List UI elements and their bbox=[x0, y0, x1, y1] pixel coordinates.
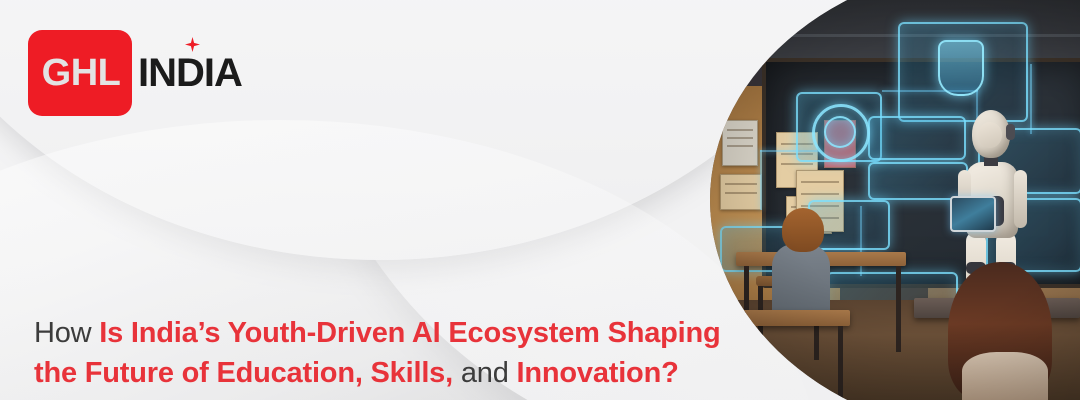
headline-segment-4: Innovation? bbox=[516, 357, 678, 389]
hero-banner: GHL INDIA How Is India’s Youth-Driven AI… bbox=[0, 0, 1080, 400]
classroom-scene bbox=[700, 0, 1080, 400]
logo-mark-text: GHL bbox=[40, 54, 121, 92]
logo-wordmark: INDIA bbox=[138, 53, 242, 93]
photo-vignette bbox=[700, 0, 1080, 400]
brand-logo[interactable]: GHL INDIA bbox=[28, 30, 242, 116]
logo-mark: GHL bbox=[28, 30, 132, 116]
headline-segment-1: How bbox=[34, 317, 99, 349]
page-title: How Is India’s Youth-Driven AI Ecosystem… bbox=[34, 313, 754, 393]
hero-image bbox=[700, 0, 1080, 400]
diamond-sparkle-icon bbox=[185, 37, 200, 52]
headline-segment-3: and bbox=[453, 357, 517, 389]
logo-word-text: INDIA bbox=[138, 51, 242, 95]
